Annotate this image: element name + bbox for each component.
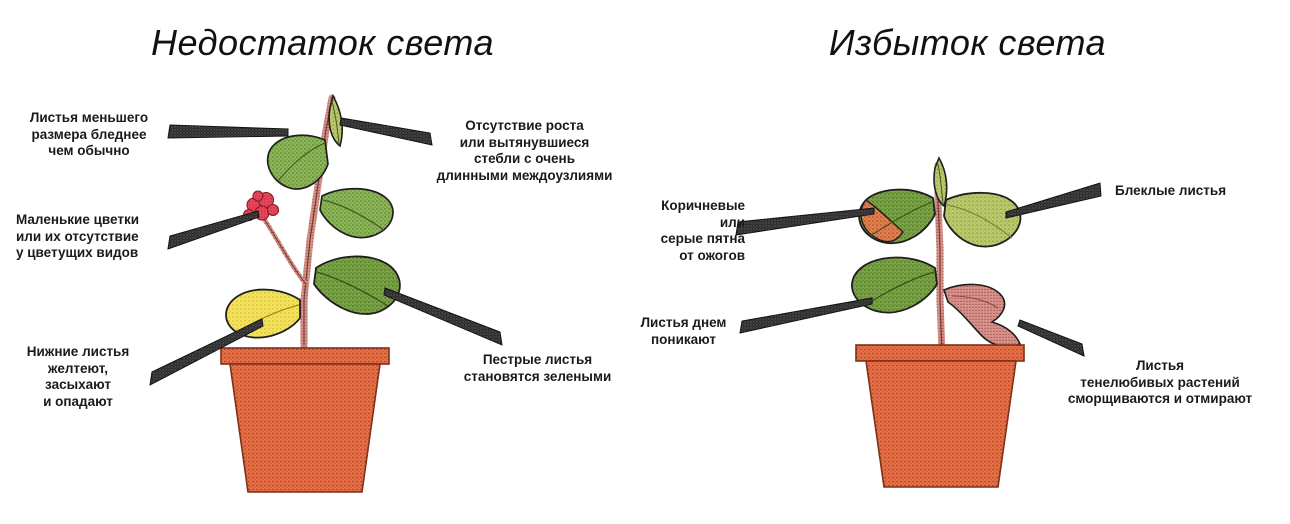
callout-smaller-paler-leaves: Листья меньшего размера бледнее чем обыч…	[14, 110, 164, 160]
callout-small-or-absent-flowers: Маленькие цветки или их отсутствие у цве…	[16, 212, 176, 262]
panel-light-deficit: Недостаток света Листья меньшего размера…	[0, 0, 645, 524]
callout-faded-leaves: Блеклые листья	[1115, 183, 1285, 200]
callout-lower-leaves-yellow: Нижние листья желтеют, засыхают и опадаю…	[8, 344, 148, 410]
callout-variegated-turn-green: Пестрые листья становятся зелеными	[455, 352, 620, 385]
callout-shade-plants-shrivel: Листья тенелюбивых растений сморщиваются…	[1045, 358, 1275, 408]
callout-leaves-wilt-in-daytime: Листья днем поникают	[626, 315, 741, 348]
panel-light-excess: Избыток света Коричневые или серые пятна…	[645, 0, 1290, 524]
callout-brown-or-grey-burn-spots: Коричневые или серые пятна от ожогов	[625, 198, 745, 264]
callout-no-growth-long-internodes: Отсутствие роста или вытянувшиеся стебли…	[432, 118, 617, 184]
panel-title-deficit: Недостаток света	[0, 22, 645, 64]
diagram-canvas: Недостаток света Листья меньшего размера…	[0, 0, 1290, 524]
panel-title-excess: Избыток света	[645, 22, 1290, 64]
